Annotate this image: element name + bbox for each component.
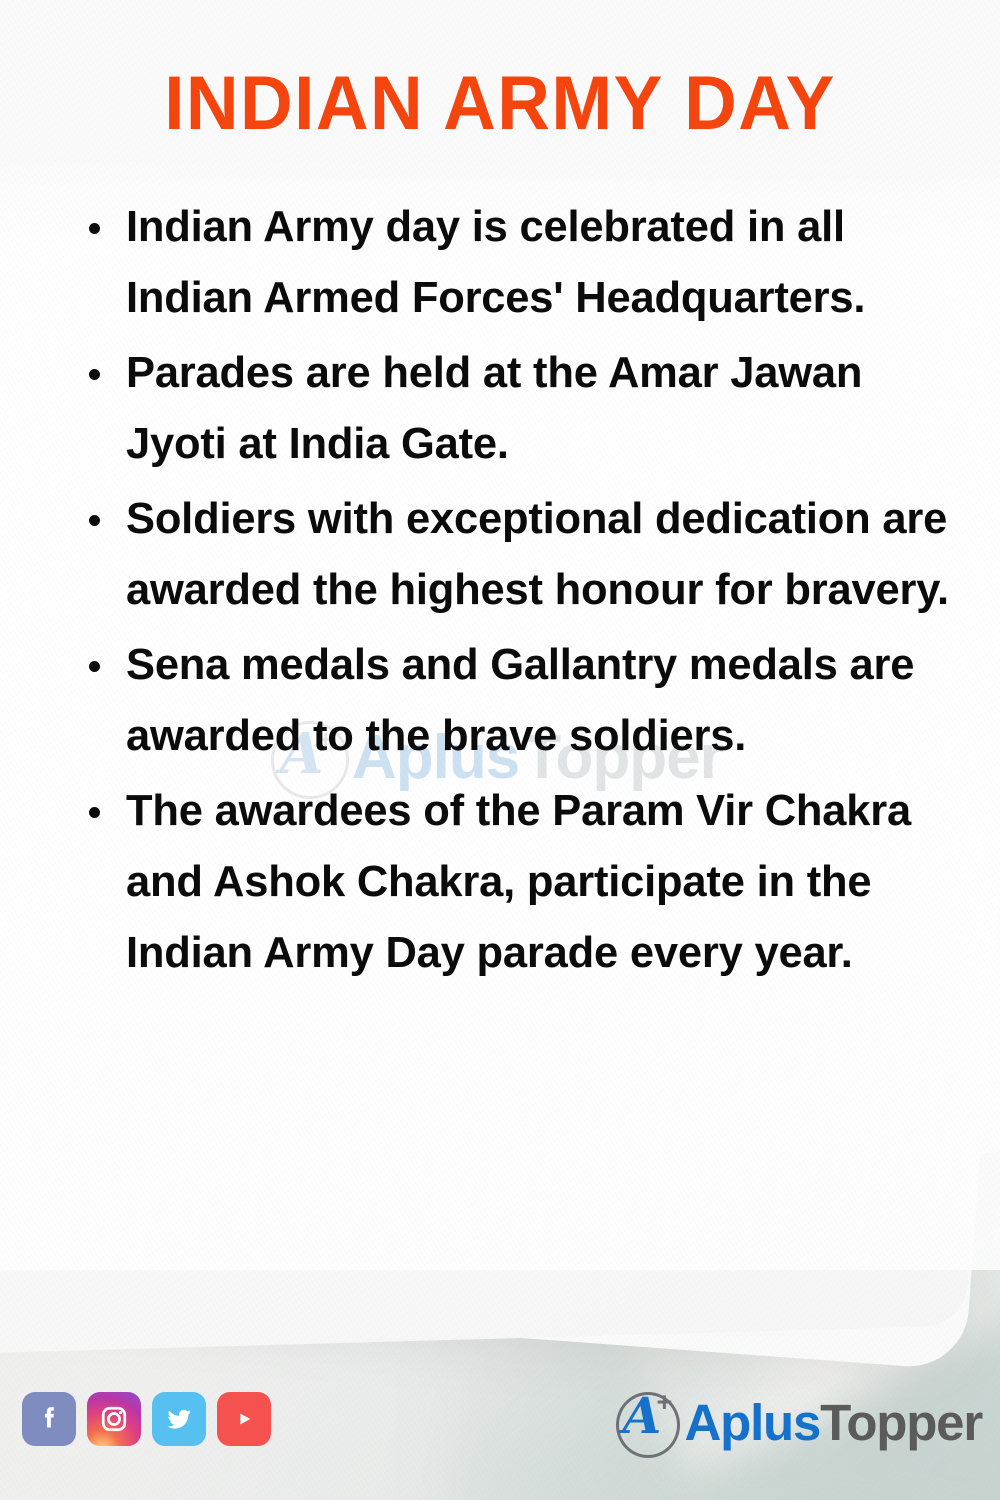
brand-name-primary: Aplus — [684, 1397, 820, 1448]
footer: A + AplusTopper — [0, 1380, 1000, 1500]
list-item: Parades are held at the Amar Jawan Jyoti… — [74, 338, 964, 480]
instagram-icon[interactable] — [87, 1392, 141, 1446]
social-links — [22, 1392, 271, 1446]
poster-canvas: A + AplusTopper INDIAN ARMY DAY Indian A… — [0, 0, 1000, 1500]
brand-logo-icon: A + — [614, 1389, 682, 1455]
list-item: Sena medals and Gallantry medals are awa… — [74, 630, 964, 772]
brand-letter-a: A — [622, 1391, 661, 1441]
bullet-list: Indian Army day is celebrated in all Ind… — [74, 192, 964, 993]
youtube-icon[interactable] — [217, 1392, 271, 1446]
list-item: Indian Army day is celebrated in all Ind… — [74, 192, 964, 334]
brand-plus-icon: + — [656, 1389, 672, 1416]
brand-name-secondary: Topper — [820, 1397, 982, 1448]
twitter-icon[interactable] — [152, 1392, 206, 1446]
list-item: Soldiers with exceptional dedication are… — [74, 484, 964, 626]
facebook-icon[interactable] — [22, 1392, 76, 1446]
page-title: INDIAN ARMY DAY — [20, 66, 980, 142]
list-item: The awardees of the Param Vir Chakra and… — [74, 776, 964, 989]
brand-logo[interactable]: A + AplusTopper — [614, 1388, 982, 1456]
